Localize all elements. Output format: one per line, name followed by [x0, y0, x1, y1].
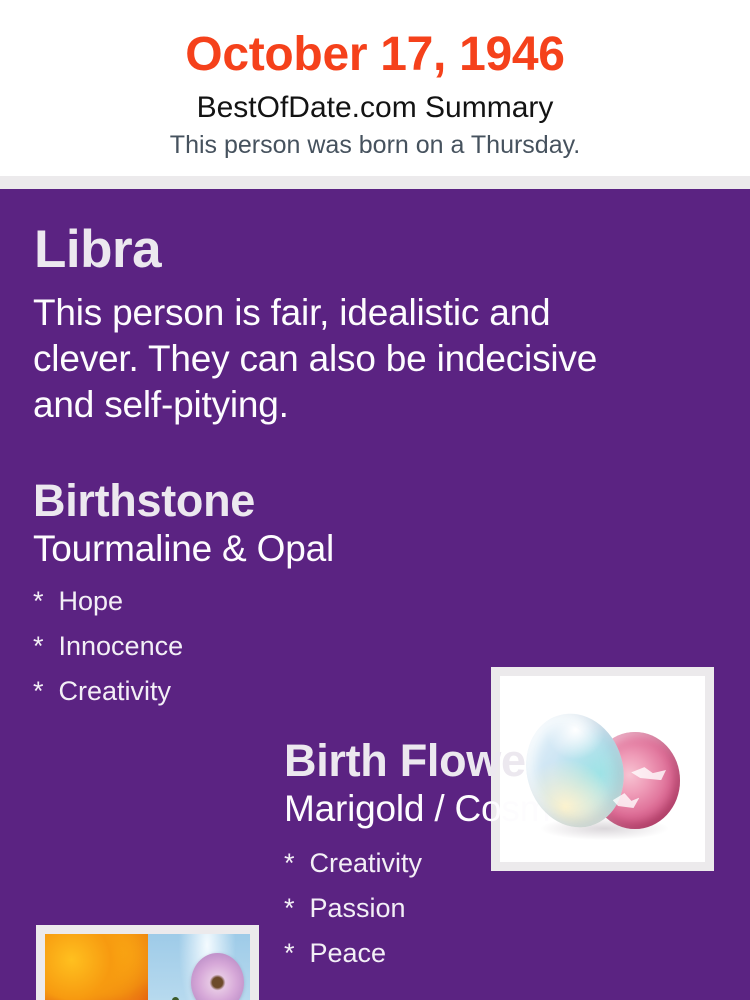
list-item: * Passion [284, 886, 724, 931]
page-title: October 17, 1946 [0, 0, 750, 84]
card-header: October 17, 1946 BestOfDate.com Summary … [0, 0, 750, 176]
list-item: * Peace [284, 931, 724, 976]
header-divider [0, 176, 750, 189]
birthflower-image-inner [45, 934, 250, 1000]
marigold-photo-half [45, 934, 148, 1000]
list-item: * Creativity [33, 669, 473, 714]
zodiac-description: This person is fair, idealistic and clev… [33, 290, 633, 428]
details-panel: Libra This person is fair, idealistic an… [0, 189, 750, 1000]
birthstone-title: Birthstone [33, 475, 473, 527]
site-subtitle: BestOfDate.com Summary [0, 84, 750, 126]
infographic-card: October 17, 1946 BestOfDate.com Summary … [0, 0, 750, 1000]
birthflower-image [36, 925, 259, 1000]
list-item: * Hope [33, 579, 473, 624]
list-item: * Creativity [284, 841, 724, 886]
flower-illustration [45, 934, 250, 1000]
cosmos-photo-half [148, 934, 251, 1000]
zodiac-sign-title: Libra [34, 221, 161, 279]
birthstone-section: Birthstone Tourmaline & Opal * Hope * In… [33, 475, 473, 714]
birth-weekday-note: This person was born on a Thursday. [0, 126, 750, 161]
birthstone-trait-list: * Hope * Innocence * Creativity [33, 579, 473, 714]
cosmos-bloom [191, 953, 244, 1000]
birthflower-trait-list: * Creativity * Passion * Peace [284, 841, 724, 976]
list-item: * Innocence [33, 624, 473, 669]
birthstone-names: Tourmaline & Opal [33, 527, 473, 571]
